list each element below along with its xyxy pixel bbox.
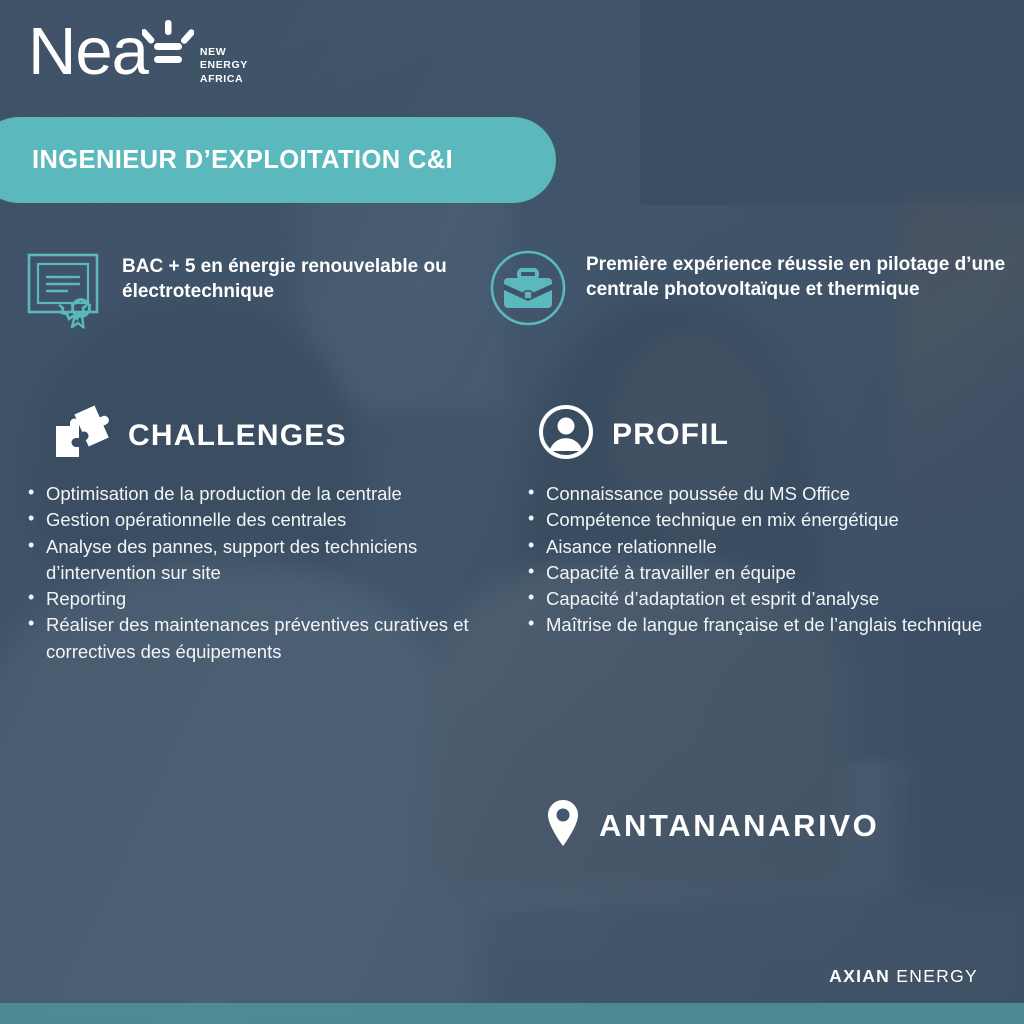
requirement-experience: Première expérience réussie en pilotage … xyxy=(488,248,1008,333)
requirement-experience-text: Première expérience réussie en pilotage … xyxy=(586,248,1008,303)
list-item: Capacité d’adaptation et esprit d’analys… xyxy=(524,586,1014,612)
section-title-profil: PROFIL xyxy=(612,418,729,452)
map-pin-icon xyxy=(545,798,581,853)
logo-tagline-line: NEW xyxy=(200,46,248,59)
user-circle-icon xyxy=(538,404,594,465)
location-name: ANTANANARIVO xyxy=(599,808,879,844)
briefcase-icon xyxy=(488,248,568,333)
company-logo: Nea NEW ENERGY AFRICA xyxy=(28,18,248,86)
sun-burst-icon xyxy=(142,20,194,82)
requirement-education: BAC + 5 en énergie renouvelable ou élect… xyxy=(26,250,476,335)
list-item: Compétence technique en mix énergétique xyxy=(524,507,1014,533)
logo-wordmark: Nea xyxy=(28,18,148,85)
list-item: Reporting xyxy=(24,586,476,612)
logo-tagline-line: ENERGY xyxy=(200,59,248,72)
list-item: Gestion opérationnelle des centrales xyxy=(24,507,476,533)
bottom-accent-bar xyxy=(0,1003,1024,1024)
section-title-challenges: CHALLENGES xyxy=(128,419,347,453)
section-header-challenges: CHALLENGES xyxy=(52,404,347,467)
logo-tagline-line: AFRICA xyxy=(200,73,248,86)
puzzle-icon xyxy=(52,404,110,467)
list-item: Aisance relationnelle xyxy=(524,534,1014,560)
job-title-banner: INGENIEUR D’EXPLOITATION C&I xyxy=(0,117,556,203)
challenges-list: Optimisation de la production de la cent… xyxy=(24,481,476,665)
list-item: Capacité à travailler en équipe xyxy=(524,560,1014,586)
list-item: Connaissance poussée du MS Office xyxy=(524,481,1014,507)
list-item: Réaliser des maintenances préventives cu… xyxy=(24,612,476,665)
page-title: INGENIEUR D’EXPLOITATION C&I xyxy=(32,146,453,175)
requirement-education-text: BAC + 5 en énergie renouvelable ou élect… xyxy=(122,250,476,305)
job-location: ANTANANARIVO xyxy=(545,798,879,853)
list-item: Optimisation de la production de la cent… xyxy=(24,481,476,507)
footer-brand-energy: ENERGY xyxy=(896,966,978,986)
profil-list: Connaissance poussée du MS Office Compét… xyxy=(524,481,1014,639)
logo-tagline: NEW ENERGY AFRICA xyxy=(200,46,248,86)
certificate-icon xyxy=(26,250,104,335)
section-header-profil: PROFIL xyxy=(538,404,729,465)
footer-brand: AXIAN ENERGY xyxy=(829,966,978,987)
footer-brand-axian: AXIAN xyxy=(829,966,890,986)
list-item: Maîtrise de langue française et de l’ang… xyxy=(524,612,1014,638)
list-item: Analyse des pannes, support des technici… xyxy=(24,534,476,587)
